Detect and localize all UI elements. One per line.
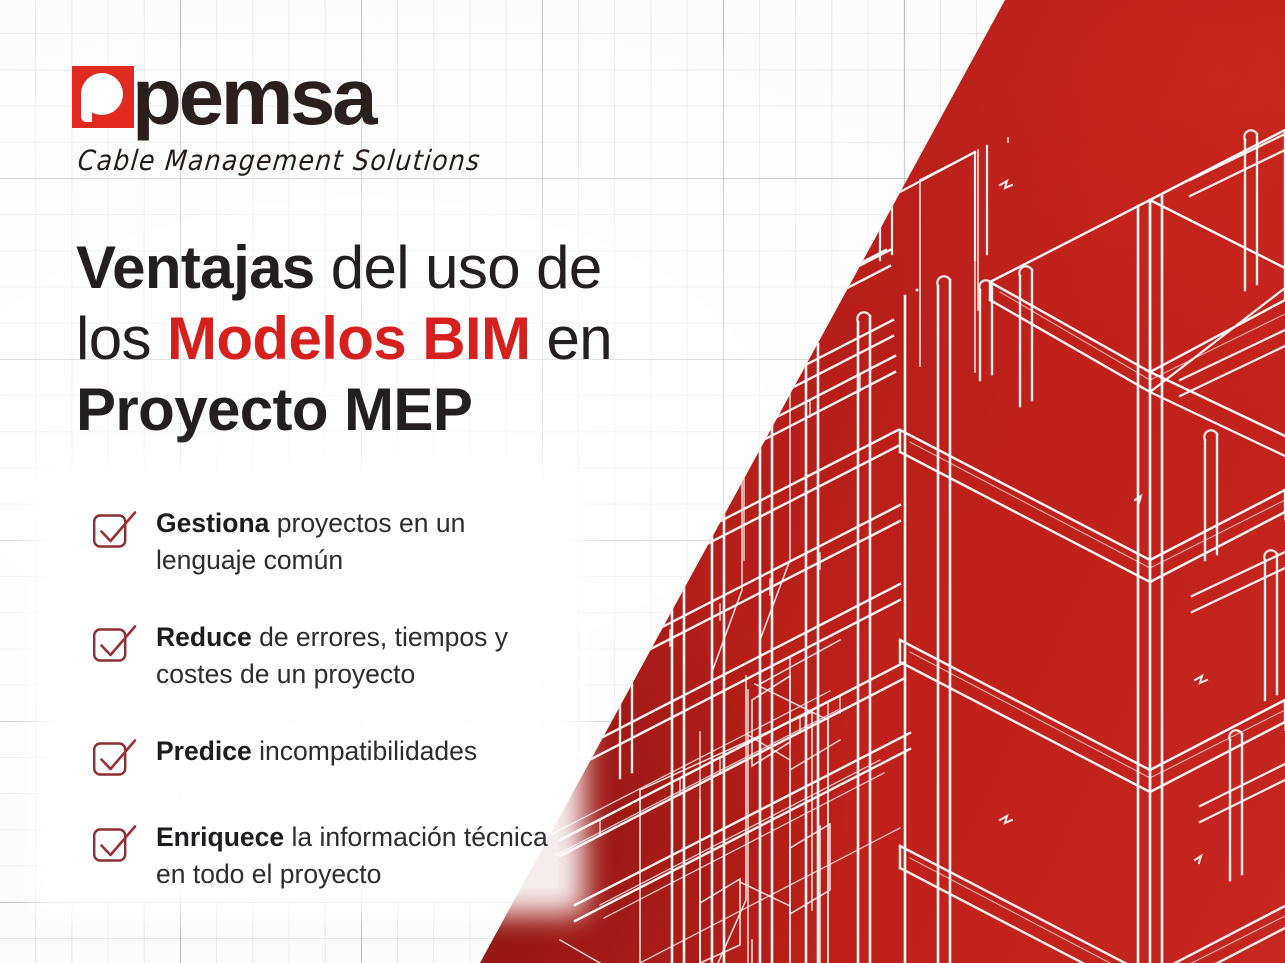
headline-ventajas: Ventajas — [76, 234, 315, 301]
list-item-keyword: Reduce — [156, 622, 252, 652]
poster-canvas: pemsa Cable Management Solutions Ventaja… — [0, 0, 1285, 963]
list-item: Reduce de errores, tiempos y costes de u… — [92, 619, 562, 693]
list-item-keyword: Predice — [156, 736, 252, 766]
headline-line-1: Ventajas del uso de — [76, 232, 696, 303]
headline-line2-suffix: en — [530, 305, 612, 372]
benefits-list: Gestiona proyectos en un lenguaje común … — [92, 505, 562, 893]
headline-line1-rest: del uso de — [315, 234, 602, 301]
headline-proyecto-mep: Proyecto MEP — [76, 376, 472, 443]
headline-modelos-bim: Modelos BIM — [167, 305, 530, 372]
headline-line-3: Proyecto MEP — [76, 374, 696, 445]
list-item: Predice incompatibilidades — [92, 733, 562, 779]
headline-line-2: los Modelos BIM en — [76, 303, 696, 374]
list-item: Gestiona proyectos en un lenguaje común — [92, 505, 562, 579]
list-item-text: Reduce de errores, tiempos y costes de u… — [156, 619, 556, 693]
checkbox-checked-icon — [92, 621, 138, 665]
list-item-text: Predice incompatibilidades — [156, 733, 477, 770]
checkbox-checked-icon — [92, 507, 138, 551]
logo-p-stem — [81, 92, 92, 122]
list-item-text: Gestiona proyectos en un lenguaje común — [156, 505, 556, 579]
list-item-text: Enriquece la información técnica en todo… — [156, 819, 556, 893]
checkbox-checked-icon — [92, 735, 138, 779]
list-item: Enriquece la información técnica en todo… — [92, 819, 562, 893]
page-title: Ventajas del uso de los Modelos BIM en P… — [76, 232, 696, 445]
list-item-keyword: Enriquece — [156, 822, 284, 852]
list-item-rest: incompatibilidades — [252, 736, 477, 766]
headline-line2-prefix: los — [76, 305, 167, 372]
pemsa-p-square-icon — [72, 66, 134, 128]
brand-logo[interactable]: pemsa Cable Management Solutions — [72, 62, 492, 175]
logo-row: pemsa — [72, 62, 492, 132]
checkbox-checked-icon — [92, 821, 138, 865]
list-item-keyword: Gestiona — [156, 508, 269, 538]
logo-tagline: Cable Management Solutions — [76, 144, 493, 176]
logo-wordmark: pemsa — [132, 66, 374, 128]
